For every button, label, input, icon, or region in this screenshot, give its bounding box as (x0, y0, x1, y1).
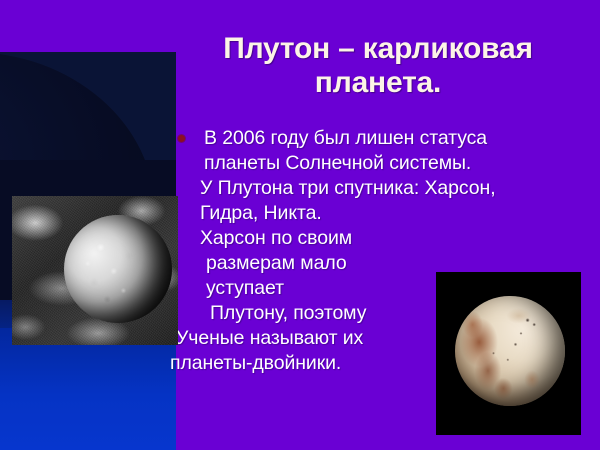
bullet-point-icon (178, 135, 185, 142)
body-line-3: У Плутона три спутника: Харсон, (170, 176, 594, 201)
charon-moon-disc (64, 215, 172, 323)
charon-grayscale-photo (12, 196, 178, 345)
pluto-planet-disc (455, 296, 565, 406)
body-line-1-text: В 2006 году был лишен статуса (204, 127, 487, 149)
slide-title: Плутон – карликовая планета. (168, 32, 588, 99)
body-line-5: Харсон по своим (170, 226, 594, 251)
pluto-dark-spots (455, 296, 565, 406)
body-line-2: планеты Солнечной системы. (170, 151, 594, 176)
presentation-slide: Плутон – карликовая планета. В 2006 году… (0, 0, 600, 450)
body-line-1: В 2006 году был лишен статуса (170, 126, 594, 151)
title-line-2: планета. (168, 66, 588, 100)
charon-craters (64, 215, 172, 323)
pluto-color-photo (436, 272, 581, 435)
title-line-1: Плутон – карликовая (168, 32, 588, 66)
body-line-4: Гидра, Никта. (170, 201, 594, 226)
bottom-blue-block (0, 328, 176, 450)
